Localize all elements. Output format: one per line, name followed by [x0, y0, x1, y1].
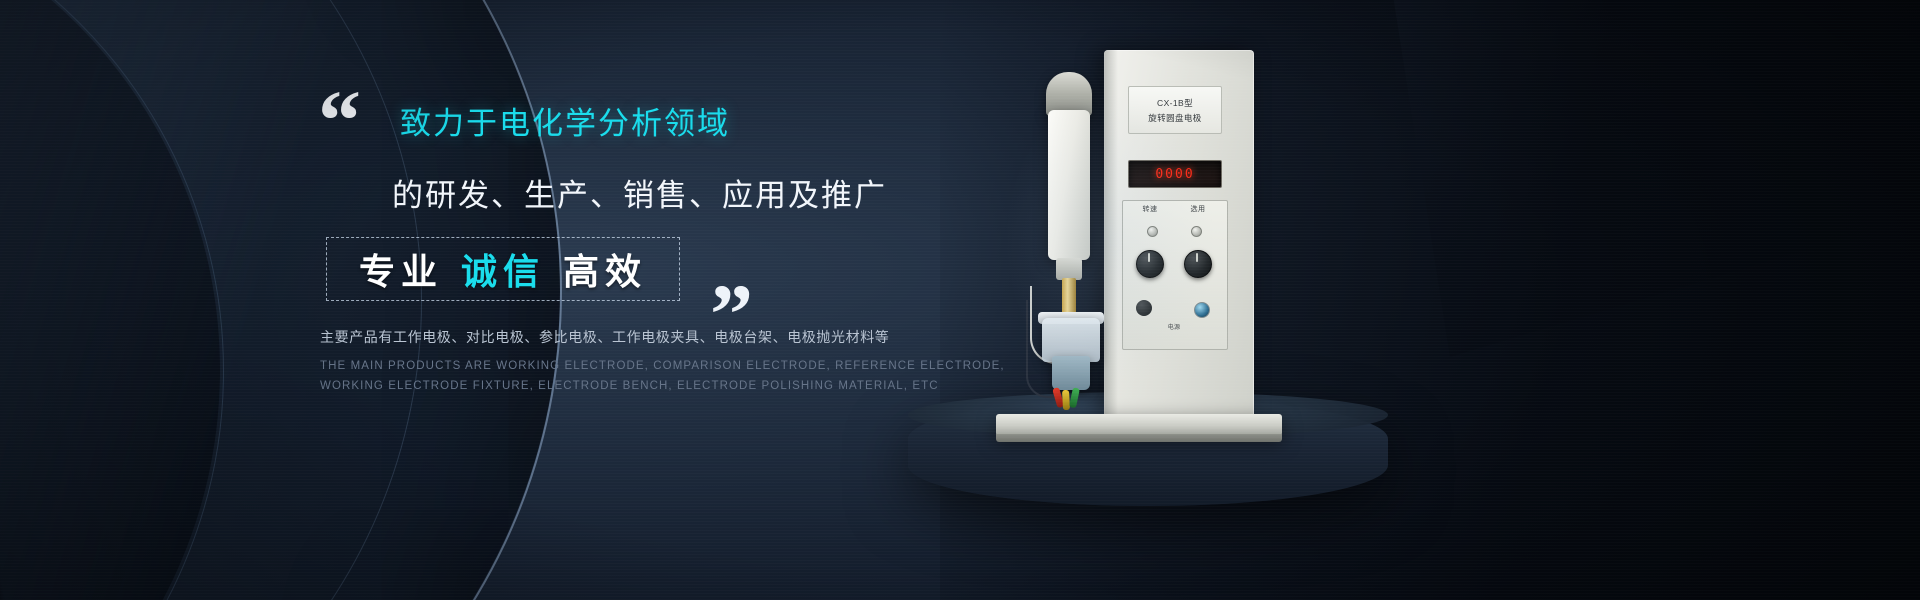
description-english-line2: WORKING ELECTRODE FIXTURE, ELECTRODE BEN…: [320, 377, 918, 395]
instrument-base: [996, 414, 1282, 436]
slogan-word-3: 高效: [563, 243, 647, 295]
device-photo: CX-1B型 旋转圆盘电极 0000 转速 选用 电源: [900, 0, 1600, 600]
clip-yellow: [1062, 390, 1070, 410]
screw-left: [1147, 226, 1158, 237]
electrode-column-tip: [1056, 258, 1082, 280]
description-english-line1: THE MAIN PRODUCTS ARE WORKING ELECTRODE,…: [320, 357, 918, 375]
device-label-plate: CX-1B型 旋转圆盘电极: [1128, 86, 1222, 134]
description-chinese: 主要产品有工作电极、对比电极、参比电极、工作电极夹具、电极台架、电极抛光材料等: [320, 327, 918, 347]
instrument-base-edge: [996, 434, 1282, 442]
headline-row: “ 致力于电化学分析领域: [318, 100, 918, 152]
device-label-line1: CX-1B型: [1157, 97, 1193, 109]
panel-shadow: [1104, 50, 1118, 420]
led-value: 0000: [1155, 167, 1194, 182]
knob-speed[interactable]: [1136, 250, 1164, 278]
connector-jack: [1194, 302, 1210, 318]
screw-right: [1191, 226, 1202, 237]
control-label-select: 选用: [1191, 204, 1206, 214]
device-label-line2: 旋转圆盘电极: [1148, 112, 1201, 124]
knob-row: [1126, 250, 1222, 278]
electrode-column: [1048, 110, 1090, 260]
banner-stage: “ 致力于电化学分析领域 的研发、生产、销售、应用及推广 专业 诚信 高效 ” …: [0, 0, 1920, 600]
slogan-word-2: 诚信: [461, 243, 545, 295]
led-display: 0000: [1128, 160, 1222, 188]
power-switch[interactable]: [1136, 300, 1152, 316]
quote-close-icon: ”: [710, 288, 749, 340]
control-labels: 转速 选用: [1126, 204, 1222, 214]
cell-body: [1052, 356, 1090, 390]
quote-open-icon: “: [318, 94, 357, 146]
slogan-box: 专业 诚信 高效: [326, 237, 680, 301]
clip-green: [1069, 387, 1080, 408]
cable-dark: [1026, 300, 1054, 398]
device-footer-note: 电源: [1126, 322, 1222, 331]
screw-row: [1130, 226, 1218, 237]
headline-white: 的研发、生产、销售、应用及推广: [392, 170, 918, 215]
control-label-speed: 转速: [1143, 204, 1158, 214]
slogan-word-1: 专业: [359, 243, 443, 295]
banner-copy: “ 致力于电化学分析领域 的研发、生产、销售、应用及推广 专业 诚信 高效 ” …: [318, 100, 918, 395]
instrument: CX-1B型 旋转圆盘电极 0000 转速 选用 电源: [1018, 50, 1258, 450]
headline-cyan: 致力于电化学分析领域: [400, 98, 730, 143]
knob-select[interactable]: [1184, 250, 1212, 278]
